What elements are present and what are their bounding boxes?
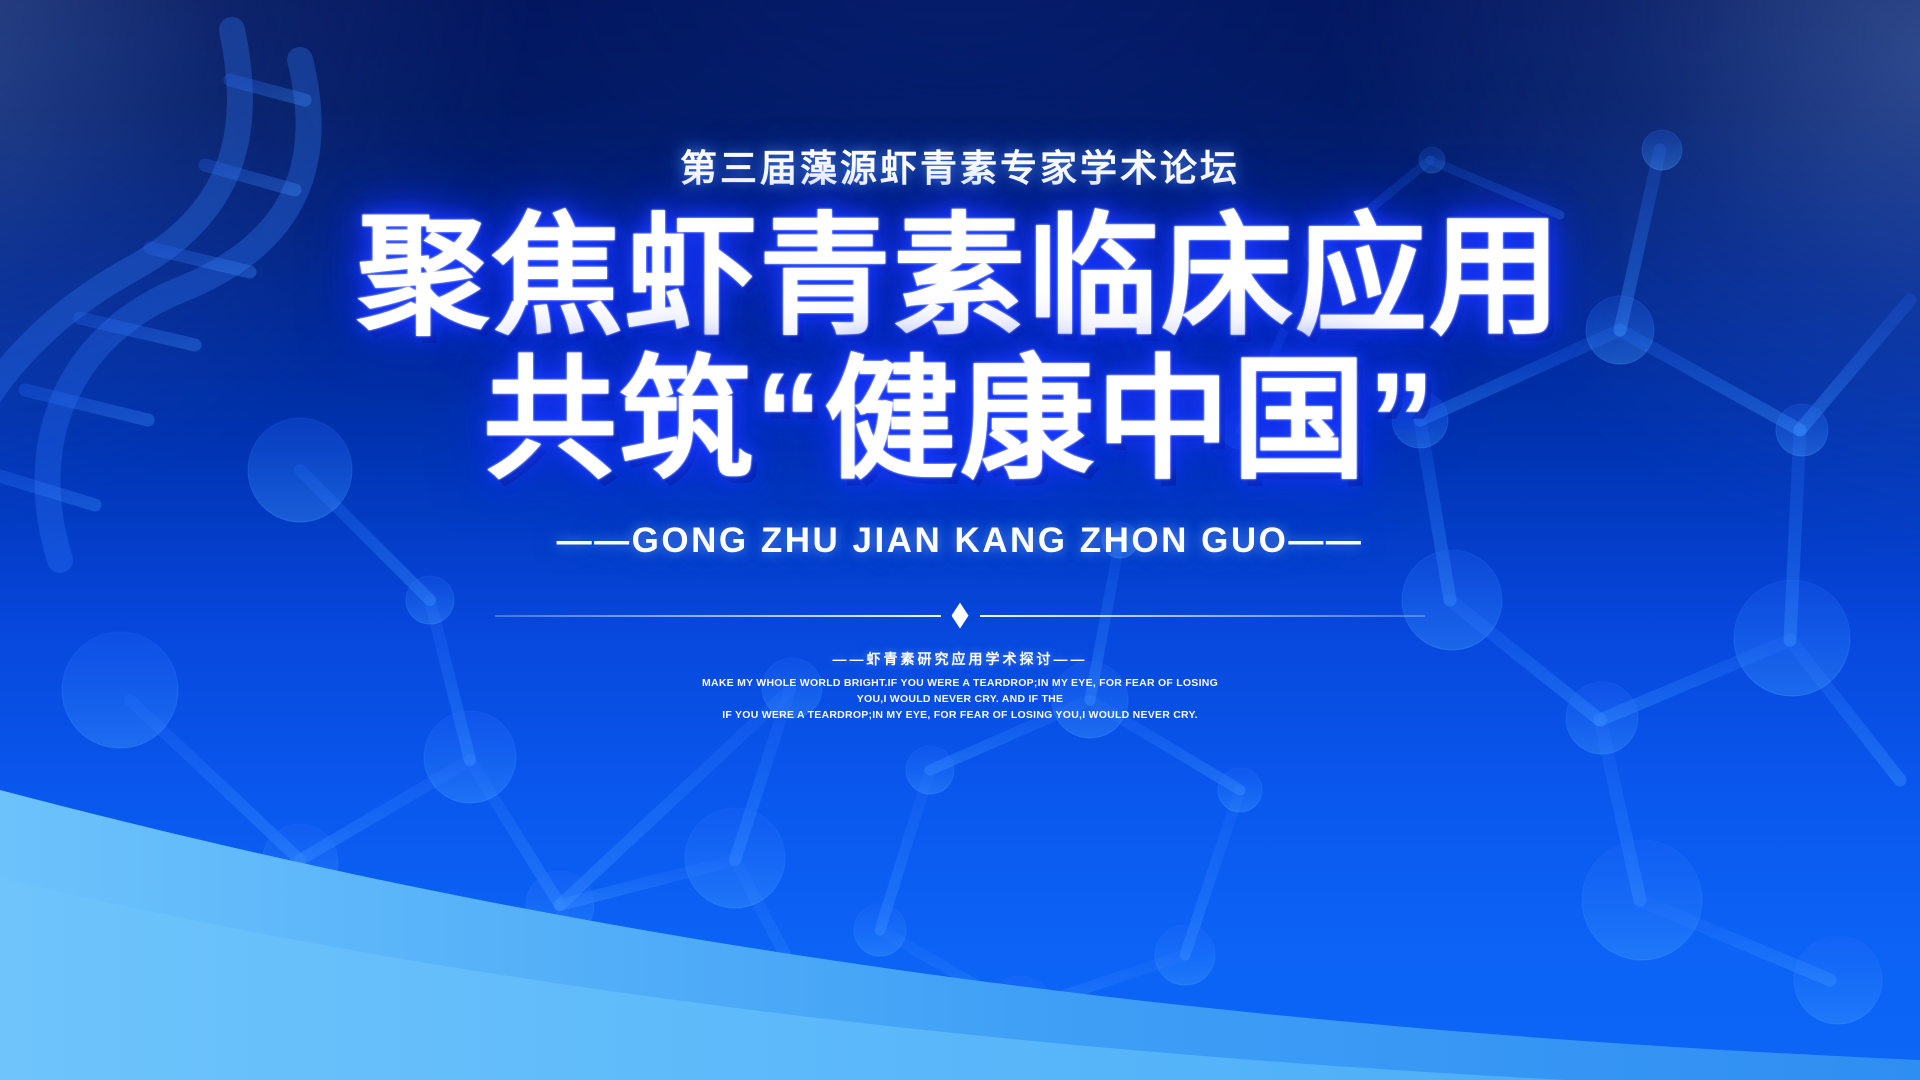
divider-rule-left xyxy=(495,615,941,617)
fineprint-block: MAKE MY WHOLE WORLD BRIGHT.IF YOU WERE A… xyxy=(690,676,1230,724)
pinyin-subtitle: ——GONG ZHU JIAN KANG ZHON GUO—— xyxy=(557,521,1364,561)
forum-eyebrow-title: 第三届藻源虾青素专家学术论坛 xyxy=(680,138,1240,192)
fineprint-line-2: IF YOU WERE A TEARDROP;IN MY EYE, FOR FE… xyxy=(690,708,1230,724)
poster-content: 第三届藻源虾青素专家学术论坛 聚焦虾青素临床应用 共筑“健康中国” ——GONG… xyxy=(0,0,1920,1080)
main-title-block: 聚焦虾青素临床应用 共筑“健康中国” xyxy=(357,208,1563,491)
main-title-line-2: 共筑“健康中国” xyxy=(357,351,1563,490)
main-title-line-1: 聚焦虾青素临床应用 xyxy=(357,208,1563,345)
topic-tagline: ——虾青素研究应用学术探讨—— xyxy=(833,649,1088,669)
fineprint-line-1: MAKE MY WHOLE WORLD BRIGHT.IF YOU WERE A… xyxy=(690,676,1230,708)
poster-canvas: 第三届藻源虾青素专家学术论坛 聚焦虾青素临床应用 共筑“健康中国” ——GONG… xyxy=(0,0,1920,1080)
diamond-icon xyxy=(952,603,969,629)
diamond-divider xyxy=(495,603,1425,629)
divider-rule-right xyxy=(980,615,1426,617)
